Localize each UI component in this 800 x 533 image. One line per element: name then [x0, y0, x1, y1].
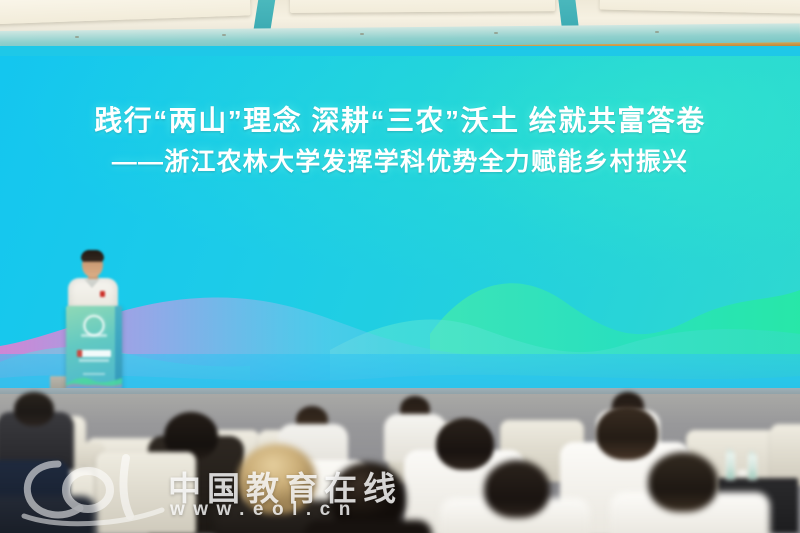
podium-emblem-caption — [81, 334, 107, 337]
audience-head — [596, 406, 658, 460]
ceiling-panel — [290, 0, 555, 13]
bottle-cap — [727, 449, 732, 452]
conference-emblem-icon — [84, 315, 105, 336]
podium-wordmark-sub — [79, 359, 109, 362]
bottle-cap — [749, 451, 754, 454]
ceiling-downlight-icon — [494, 32, 498, 34]
podium-wordmark — [77, 350, 111, 357]
ceiling-panel — [0, 0, 251, 25]
slide-title-block: 践行“两山”理念 深耕“三农”沃土 绘就共富答卷 ——浙江农林大学发挥学科优势全… — [0, 104, 800, 178]
ceiling-downlight-icon — [75, 36, 79, 38]
water-bottle — [726, 452, 735, 480]
speaker-hair — [81, 250, 104, 261]
chair — [770, 424, 800, 486]
ceiling-downlight-icon — [360, 33, 364, 35]
speaker-badge — [100, 291, 105, 297]
slide-title-line-2: ——浙江农林大学发挥学科优势全力赋能乡村振兴 — [0, 146, 800, 179]
audience-head — [436, 418, 494, 470]
conference-photo: 践行“两山”理念 深耕“三农”沃土 绘就共富答卷 ——浙江农林大学发挥学科优势全… — [0, 0, 800, 533]
water-bottle — [748, 454, 757, 480]
ceiling-downlight-icon — [222, 34, 226, 36]
audience-head — [648, 452, 718, 512]
ceiling — [0, 0, 800, 46]
audience-head — [484, 460, 550, 518]
audience-head — [238, 444, 316, 514]
ceiling-downlight-icon — [655, 31, 659, 33]
tea-cup — [738, 470, 747, 478]
audience-torso — [304, 520, 432, 533]
audience-torso — [0, 496, 96, 533]
audience-head — [14, 392, 54, 426]
podium — [66, 306, 122, 392]
slide-title-line-1: 践行“两山”理念 深耕“三农”沃土 绘就共富答卷 — [0, 104, 800, 139]
chair — [96, 452, 196, 533]
ceiling-panel — [600, 0, 800, 15]
